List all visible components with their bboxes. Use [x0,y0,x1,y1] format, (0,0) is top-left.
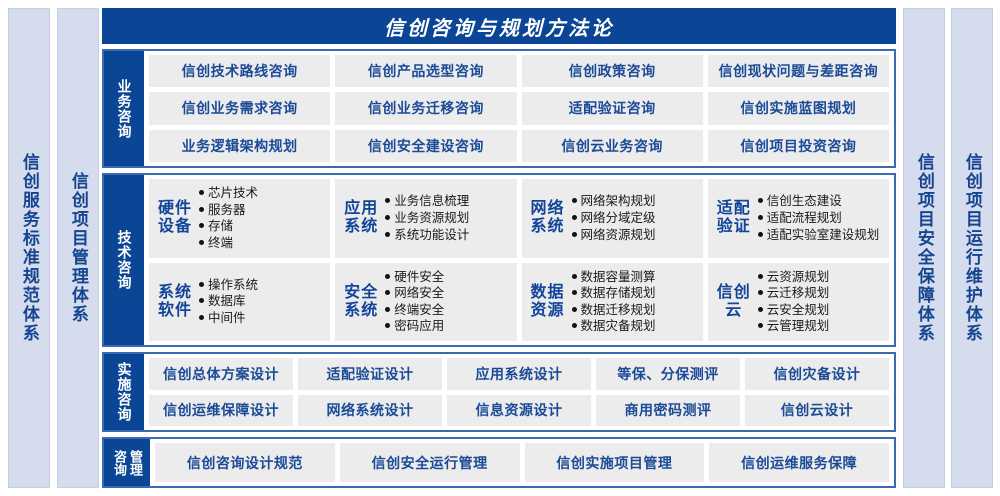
topic-card-network-system[interactable]: 网络 系统 网络架构规划 网络分域定级 网络资源规划 [522,179,703,258]
bullet-icon [758,198,763,203]
cell-item[interactable]: 信创总体方案设计 [149,358,293,390]
bullet-icon [758,274,763,279]
band-implementation-consulting-label: 实施咨询 [104,354,144,430]
cell-item[interactable]: 信创安全建设咨询 [335,130,516,162]
topic-item: 适配流程规划 [758,210,883,227]
cell-item[interactable]: 应用系统设计 [447,358,591,390]
topic-title: 数据 资源 [528,284,568,320]
bullet-icon [758,232,763,237]
bullet-icon [572,323,577,328]
topic-item: 云资源规划 [758,269,883,286]
cell-item[interactable]: 业务逻辑架构规划 [149,130,330,162]
pillar-left-service-standard: 信创服务标准规范体系 [8,8,50,488]
topic-title: 信创 云 [714,284,754,320]
topic-item-list: 操作系统 数据库 中间件 [199,277,324,327]
topic-item: 中间件 [199,310,324,327]
band-consulting-management: 咨询 管理 信创咨询设计规范 信创安全运行管理 信创实施项目管理 信创运维服务保… [102,437,896,488]
bullet-icon [572,215,577,220]
band-technical-consulting-label-text: 技术咨询 [116,230,131,290]
topic-item: 硬件安全 [385,269,510,286]
pillar-right-security-assurance-label: 信创项目安全保障体系 [915,153,933,343]
topic-card-application-system[interactable]: 应用 系统 业务信息梳理 业务资源规划 系统功能设计 [335,179,516,258]
cell-item[interactable]: 信创咨询设计规范 [155,443,335,482]
cell-item[interactable]: 适配验证咨询 [522,92,703,124]
bullet-icon [199,190,204,195]
bullet-icon [199,223,204,228]
cell-item[interactable]: 信创云业务咨询 [522,130,703,162]
topic-item: 网络分域定级 [572,210,697,227]
cell-item[interactable]: 等保、分保测评 [596,358,740,390]
topic-item: 云迁移规划 [758,285,883,302]
pillar-left-project-management-label: 信创项目管理体系 [69,172,87,324]
bullet-icon [758,290,763,295]
cell-item[interactable]: 信创灾备设计 [745,358,889,390]
cell-item[interactable]: 商用密码测评 [596,395,740,427]
topic-item: 业务信息梳理 [385,193,510,210]
cell-row: 信创咨询设计规范 信创安全运行管理 信创实施项目管理 信创运维服务保障 [155,443,889,482]
band-business-consulting-body: 信创技术路线咨询 信创产品选型咨询 信创政策咨询 信创现状问题与差距咨询 信创业… [144,51,894,166]
topic-row: 硬件 设备 芯片技术 服务器 存储 终端 应用 系统 业务信息梳理 业务资源规划 [149,179,889,258]
cell-item[interactable]: 信创业务迁移咨询 [335,92,516,124]
cell-item[interactable]: 信创产品选型咨询 [335,55,516,87]
topic-item: 数据库 [199,293,324,310]
cell-row: 信创运维保障设计 网络系统设计 信息资源设计 商用密码测评 信创云设计 [149,395,889,427]
pillar-left-service-standard-label: 信创服务标准规范体系 [20,153,38,343]
band-implementation-consulting-label-text: 实施咨询 [116,362,131,422]
cell-row: 信创总体方案设计 适配验证设计 应用系统设计 等保、分保测评 信创灾备设计 [149,358,889,390]
bullet-icon [572,274,577,279]
band-consulting-management-label-col1: 咨询 [112,450,126,476]
bullet-icon [572,290,577,295]
center-stack: 信创咨询与规划方法论 业务咨询 信创技术路线咨询 信创产品选型咨询 信创政策咨询… [102,8,896,488]
bullet-icon [758,215,763,220]
bullet-icon [572,198,577,203]
bullet-icon [758,323,763,328]
bullet-icon [199,315,204,320]
band-implementation-consulting-body: 信创总体方案设计 适配验证设计 应用系统设计 等保、分保测评 信创灾备设计 信创… [144,354,894,430]
bullet-icon [385,323,390,328]
cell-item[interactable]: 信创项目投资咨询 [708,130,889,162]
topic-item-list: 硬件安全 网络安全 终端安全 密码应用 [385,269,510,336]
bullet-icon [199,240,204,245]
topic-item-list: 云资源规划 云迁移规划 云安全规划 云管理规划 [758,269,883,336]
bullet-icon [385,307,390,312]
bullet-icon [199,298,204,303]
cell-item[interactable]: 信创现状问题与差距咨询 [708,55,889,87]
topic-card-hardware-devices[interactable]: 硬件 设备 芯片技术 服务器 存储 终端 [149,179,330,258]
cell-item[interactable]: 信创政策咨询 [522,55,703,87]
topic-item: 适配实验室建设规划 [758,227,883,244]
topic-item: 系统功能设计 [385,227,510,244]
topic-title: 系统 软件 [155,284,195,320]
pillar-left-project-management: 信创项目管理体系 [57,8,99,488]
topic-card-security-system[interactable]: 安全 系统 硬件安全 网络安全 终端安全 密码应用 [335,263,516,342]
band-technical-consulting: 技术咨询 硬件 设备 芯片技术 服务器 存储 终端 应用 系统 [102,173,896,347]
topic-card-data-resources[interactable]: 数据 资源 数据容量测算 数据存储规划 数据迁移规划 数据灾备规划 [522,263,703,342]
cell-item[interactable]: 信创运维服务保障 [709,443,889,482]
bullet-icon [199,207,204,212]
topic-item: 服务器 [199,202,324,219]
band-consulting-management-body: 信创咨询设计规范 信创安全运行管理 信创实施项目管理 信创运维服务保障 [150,439,894,486]
topic-item-list: 网络架构规划 网络分域定级 网络资源规划 [572,193,697,243]
bullet-icon [572,307,577,312]
topic-item: 云安全规划 [758,302,883,319]
cell-item[interactable]: 信创安全运行管理 [340,443,520,482]
pillar-right-operation-maintenance-label: 信创项目运行维护体系 [963,153,981,343]
topic-item: 数据迁移规划 [572,302,697,319]
topic-item: 业务资源规划 [385,210,510,227]
pillar-right-operation-maintenance: 信创项目运行维护体系 [951,8,993,488]
cell-item[interactable]: 信创实施蓝图规划 [708,92,889,124]
topic-item-list: 芯片技术 服务器 存储 终端 [199,185,324,252]
topic-title: 安全 系统 [341,284,381,320]
topic-item-list: 数据容量测算 数据存储规划 数据迁移规划 数据灾备规划 [572,269,697,336]
band-implementation-consulting: 实施咨询 信创总体方案设计 适配验证设计 应用系统设计 等保、分保测评 信创灾备… [102,352,896,432]
topic-card-adaptation-verification[interactable]: 适配 验证 信创生态建设 适配流程规划 适配实验室建设规划 [708,179,889,258]
topic-item: 网络资源规划 [572,227,697,244]
page-title: 信创咨询与规划方法论 [102,8,896,44]
topic-item: 密码应用 [385,318,510,335]
bullet-icon [385,274,390,279]
topic-item: 数据容量测算 [572,269,697,286]
topic-title: 适配 验证 [714,200,754,236]
cell-item[interactable]: 信息资源设计 [447,395,591,427]
cell-item[interactable]: 信创实施项目管理 [525,443,705,482]
topic-item: 芯片技术 [199,185,324,202]
band-business-consulting-label-text: 业务咨询 [116,79,131,139]
cell-row: 信创业务需求咨询 信创业务迁移咨询 适配验证咨询 信创实施蓝图规划 [149,92,889,124]
topic-item: 云管理规划 [758,318,883,335]
cell-item[interactable]: 信创云设计 [745,395,889,427]
topic-item-list: 信创生态建设 适配流程规划 适配实验室建设规划 [758,193,883,243]
topic-item: 数据灾备规划 [572,318,697,335]
cell-row: 业务逻辑架构规划 信创安全建设咨询 信创云业务咨询 信创项目投资咨询 [149,130,889,162]
topic-title: 网络 系统 [528,200,568,236]
band-consulting-management-label: 咨询 管理 [104,439,150,486]
band-technical-consulting-label: 技术咨询 [104,175,144,345]
topic-item: 信创生态建设 [758,193,883,210]
topic-item: 存储 [199,218,324,235]
topic-item: 网络安全 [385,285,510,302]
topic-title: 应用 系统 [341,200,381,236]
bullet-icon [385,198,390,203]
topic-item: 网络架构规划 [572,193,697,210]
topic-item: 数据存储规划 [572,285,697,302]
band-business-consulting-label: 业务咨询 [104,51,144,166]
cell-item[interactable]: 信创业务需求咨询 [149,92,330,124]
pillar-right-security-assurance: 信创项目安全保障体系 [903,8,945,488]
topic-card-xinchuang-cloud[interactable]: 信创 云 云资源规划 云迁移规划 云安全规划 云管理规划 [708,263,889,342]
bullet-icon [385,290,390,295]
cell-item[interactable]: 网络系统设计 [298,395,442,427]
band-consulting-management-label-col2: 管理 [128,450,142,476]
topic-item: 操作系统 [199,277,324,294]
cell-item[interactable]: 信创技术路线咨询 [149,55,330,87]
topic-row: 系统 软件 操作系统 数据库 中间件 安全 系统 硬件安全 网络安全 终端安全 [149,263,889,342]
band-business-consulting: 业务咨询 信创技术路线咨询 信创产品选型咨询 信创政策咨询 信创现状问题与差距咨… [102,49,896,168]
bullet-icon [199,282,204,287]
topic-card-system-software[interactable]: 系统 软件 操作系统 数据库 中间件 [149,263,330,342]
bullet-icon [572,232,577,237]
topic-item-list: 业务信息梳理 业务资源规划 系统功能设计 [385,193,510,243]
topic-item: 终端安全 [385,302,510,319]
bullet-icon [758,307,763,312]
bullet-icon [385,232,390,237]
bullet-icon [385,215,390,220]
cell-item[interactable]: 适配验证设计 [298,358,442,390]
band-technical-consulting-body: 硬件 设备 芯片技术 服务器 存储 终端 应用 系统 业务信息梳理 业务资源规划 [144,175,894,345]
diagram-root: 信创服务标准规范体系 信创项目管理体系 信创项目安全保障体系 信创项目运行维护体… [0,0,1000,496]
cell-item[interactable]: 信创运维保障设计 [149,395,293,427]
topic-item: 终端 [199,235,324,252]
cell-row: 信创技术路线咨询 信创产品选型咨询 信创政策咨询 信创现状问题与差距咨询 [149,55,889,87]
topic-title: 硬件 设备 [155,200,195,236]
